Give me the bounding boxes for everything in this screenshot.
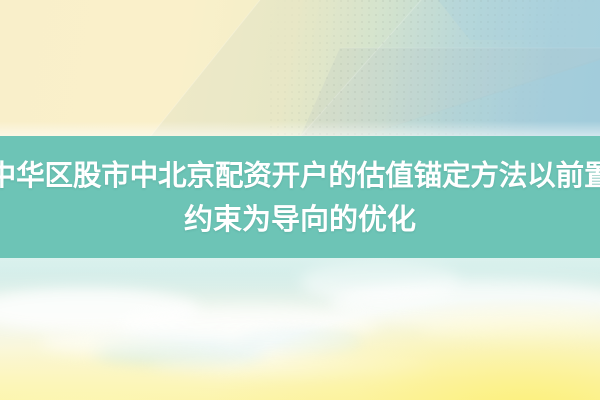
title-line-2: 约束为导向的优化 [184, 198, 416, 242]
sky-background [0, 258, 600, 400]
sky-haze [0, 258, 600, 292]
title-band: 中华区股市中北京配资开户的估值锚定方法以前置 约束为导向的优化 [0, 136, 600, 259]
header-decorative-band [0, 0, 600, 137]
header-dot-texture [270, 0, 600, 137]
header-sheen [0, 121, 600, 137]
banner-image: 中华区股市中北京配资开户的估值锚定方法以前置 约束为导向的优化 [0, 0, 600, 400]
title-line-1: 中华区股市中北京配资开户的估值锚定方法以前置 [0, 154, 600, 198]
